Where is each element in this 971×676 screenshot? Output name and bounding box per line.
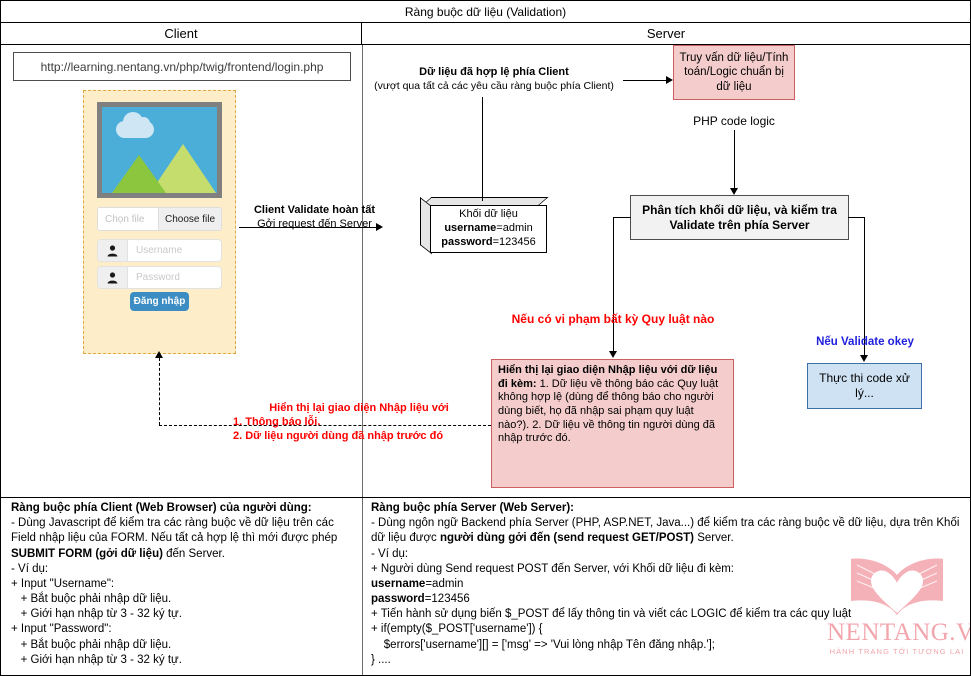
client-notes-l5: + Giới hạn nhập từ 3 - 32 ký tự. [11,608,182,620]
connector-php-to-analysis [734,130,735,188]
error-box-item2: 2. Dữ liệu về thông tin người dùng đã nh… [498,419,715,445]
username-placeholder: Username [128,240,221,261]
arrowhead-to-error-box [609,351,617,358]
redisplay-note-item1: 1. Thông báo lỗi. [233,416,485,430]
client-validate-note-line2: Gởi request đến Server [247,218,382,232]
violation-label: Nếu có vi phạm bất kỳ Quy luật nào [488,312,738,327]
okey-label: Nếu Validate okey [801,335,929,349]
valid-data-note-line1: Dữ liệu đã hợp lệ phía Client [370,66,618,80]
server-notes-l7: + if(empty($_POST['username']) { [371,623,543,635]
column-header-server: Server [362,23,970,45]
return-path-vertical [159,358,160,425]
data-block-username: username=admin [444,222,532,236]
php-logic-label: PHP code logic [673,114,795,128]
client-notes-l3: + Input "Username": [11,578,114,590]
data-block-front-face: Khối dữ liệu username=admin password=123… [430,205,547,253]
arrowhead-to-exec-box [860,355,868,362]
client-notes-l4: + Bắt buộc phải nhập dữ liệu. [11,593,171,605]
arrowhead-to-login-form [155,351,163,358]
client-notes-l1b: đến Server. [163,548,225,560]
data-block-title: Khối dữ liệu [459,208,518,222]
server-notes: Ràng buộc phía Server (Web Server): - Dù… [371,501,966,668]
client-notes-l7: + Bắt buộc phải nhập dữ liệu. [11,639,171,651]
file-input-row[interactable]: Chọn file Choose file [97,207,222,231]
client-notes-l2: - Ví dụ: [11,563,48,575]
server-analysis-box: Phân tích khối dữ liệu, và kiểm tra Vali… [630,195,849,240]
connector-analysis-left [613,217,631,218]
url-bar[interactable]: http://learning.nentang.vn/php/twig/fron… [13,52,351,81]
execute-code-box: Thực thi code xử lý... [807,363,922,409]
image-preview [97,102,222,198]
server-notes-l1-bold: người dùng gởi đến (send request GET/POS… [440,532,694,544]
server-notes-heading: Ràng buộc phía Server (Web Server): [371,502,574,514]
server-notes-l2: - Ví dụ: [371,548,408,560]
server-notes-l1b: Server. [694,532,734,544]
login-submit-button[interactable]: Đăng nhập [130,292,189,311]
server-notes-l9: } .... [371,654,391,666]
client-validate-note-line1: Client Validate hoàn tất [247,204,382,218]
client-notes-heading: Ràng buộc phía Client (Web Browser) của … [11,502,312,514]
server-notes-l3: + Người dùng Send request POST đến Serve… [371,563,734,575]
arrowhead-to-php-box [666,76,673,84]
client-notes-l1a: - Dùng Javascript để kiểm tra các ràng b… [11,517,340,544]
server-notes-l5-bold: password [371,593,425,605]
data-block: Khối dữ liệu username=admin password=123… [420,197,545,251]
php-logic-box: Truy vấn dữ liệu/Tính toán/Logic chuẩn b… [673,45,795,100]
mountain-shape-front [112,155,166,193]
data-block-password: password=123456 [441,236,536,250]
client-notes-l8: + Giới hạn nhập từ 3 - 32 ký tự. [11,654,182,666]
redisplay-note-title: Hiển thị lại giao diện Nhập liệu với [233,402,485,416]
valid-data-note: Dữ liệu đã hợp lệ phía Client (vượt qua … [370,66,618,93]
diagram-title: Ràng buộc dữ liệu (Validation) [1,1,970,23]
valid-data-note-line2: (vượt qua tất cả các yêu cầu ràng buộc p… [370,80,618,93]
cloud-icon [116,121,154,138]
redisplay-note-item2: 2. Dữ liệu người dùng đã nhập trước đó [233,430,485,444]
server-notes-l5: =123456 [425,593,470,605]
server-notes-l4: =admin [425,578,463,590]
password-field[interactable]: Password [97,266,222,289]
username-field[interactable]: Username [97,239,222,262]
connector-violation-vertical [613,217,614,351]
file-input-placeholder: Chọn file [98,208,158,230]
redisplay-note: Hiển thị lại giao diện Nhập liệu với 1. … [233,402,485,443]
client-validate-note: Client Validate hoàn tất Gởi request đến… [247,204,382,232]
server-notes-l4-bold: username [371,578,425,590]
error-redisplay-box: Hiển thị lại giao diện Nhập liệu với dữ … [491,359,734,488]
choose-file-button[interactable]: Choose file [158,208,221,230]
connector-analysis-right [848,217,865,218]
client-notes-l6: + Input "Password": [11,623,112,635]
client-notes: Ràng buộc phía Client (Web Browser) của … [11,501,356,668]
password-placeholder: Password [128,267,221,288]
user-icon [98,240,128,261]
connector-note-to-datablock [482,97,483,201]
server-notes-l6: + Tiến hành sử dụng biến $_POST để lấy t… [371,608,851,620]
column-header-client: Client [1,23,362,45]
user-icon [98,267,128,288]
connector-note-to-php [623,80,667,81]
server-notes-l8: $errors['username'][] = ['msg' => 'Vui l… [371,639,715,651]
notes-column-divider [362,498,363,675]
client-notes-l1-bold: SUBMIT FORM (gởi dữ liệu) [11,548,163,560]
arrowhead-to-analysis-box [730,188,738,195]
image-preview-canvas [102,107,217,193]
notes-divider [1,497,970,498]
validation-diagram-page: Ràng buộc dữ liệu (Validation) Client Se… [0,0,971,676]
